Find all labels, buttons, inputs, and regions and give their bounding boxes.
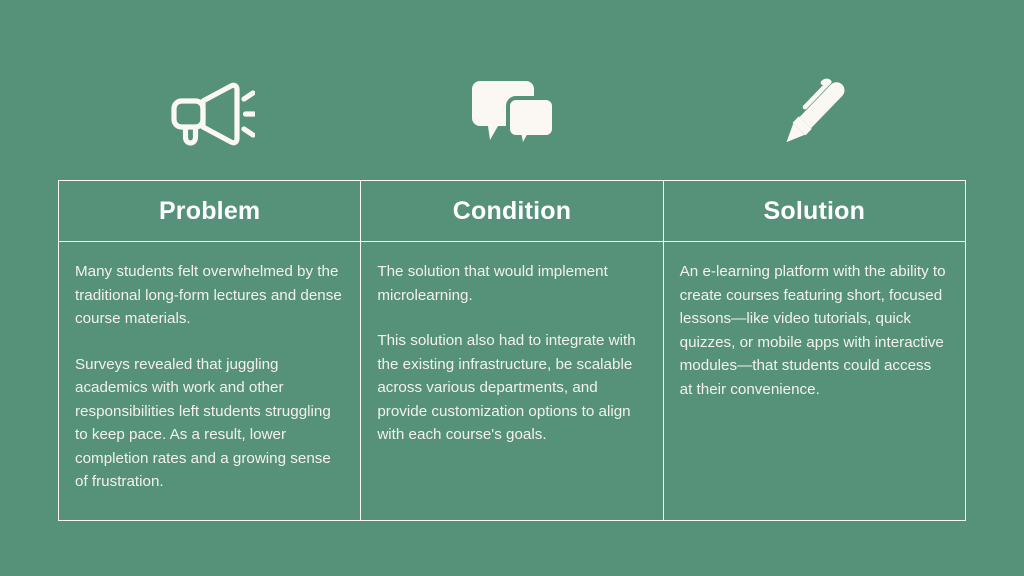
condition-paragraph-1: The solution that would implement microl…	[377, 260, 644, 307]
icon-cell-problem	[58, 55, 361, 173]
table-body-cell-solution: An e-learning platform with the ability …	[663, 242, 965, 520]
table-header-cell-solution: Solution	[663, 181, 965, 241]
table-body-cell-problem: Many students felt overwhelmed by the tr…	[59, 242, 360, 520]
icon-row	[58, 55, 966, 173]
condition-paragraph-2: This solution also had to integrate with…	[377, 329, 644, 447]
problem-paragraph-1: Many students felt overwhelmed by the tr…	[75, 260, 342, 331]
problem-paragraph-2: Surveys revealed that juggling academics…	[75, 353, 342, 494]
table-header-cell-problem: Problem	[59, 181, 360, 241]
solution-paragraph-1: An e-learning platform with the ability …	[680, 260, 947, 401]
table-body-row: Many students felt overwhelmed by the tr…	[59, 242, 965, 520]
megaphone-icon	[163, 75, 255, 153]
table-header-row: Problem Condition Solution	[59, 181, 965, 242]
pen-icon	[775, 72, 855, 156]
column-header-problem: Problem	[159, 199, 260, 224]
comparison-table: Problem Condition Solution Many students…	[58, 180, 966, 521]
icon-cell-condition	[361, 55, 664, 173]
speech-bubbles-icon	[464, 78, 560, 150]
table-body-cell-condition: The solution that would implement microl…	[360, 242, 662, 520]
column-header-condition: Condition	[453, 199, 571, 224]
column-header-solution: Solution	[764, 199, 866, 224]
table-header-cell-condition: Condition	[360, 181, 662, 241]
icon-cell-solution	[663, 55, 966, 173]
